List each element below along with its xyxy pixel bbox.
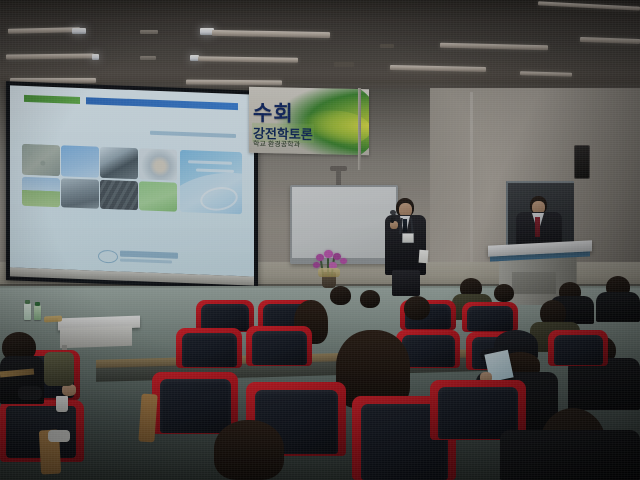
bottle-cap <box>25 300 30 304</box>
ceiling-light <box>390 65 486 72</box>
audience-body <box>596 292 640 322</box>
projection-screen <box>10 85 254 276</box>
ceiling-light <box>72 28 86 34</box>
slide-thumbnail <box>22 144 60 176</box>
seat-armrest <box>138 394 157 443</box>
ceiling-vent <box>380 44 394 48</box>
slide-thumbnail <box>100 147 138 179</box>
attendee-shoe <box>48 430 70 442</box>
flower-foliage <box>318 268 340 277</box>
banner-support-pole <box>358 88 361 170</box>
ceiling-light <box>520 71 572 76</box>
slide-logo-subtext <box>120 259 172 264</box>
snack-tray <box>44 316 62 323</box>
slide-thumbnail <box>61 178 99 208</box>
ceiling-light <box>440 43 548 51</box>
ceiling-vent <box>334 62 354 67</box>
ceiling-light <box>140 30 158 34</box>
audience-body <box>500 430 640 480</box>
lectern-front-panel <box>512 272 556 294</box>
podium-speaker-tie <box>535 217 540 237</box>
slide-thumbnail <box>61 145 99 177</box>
speaker-name-badge <box>402 233 414 243</box>
audience-head <box>330 286 351 305</box>
flower-bloom <box>340 258 347 264</box>
seat-back <box>201 304 249 331</box>
microphone-head <box>390 210 396 215</box>
speaker-papers <box>419 250 429 264</box>
slide-logo-mark <box>98 250 118 264</box>
ceiling-light <box>6 54 94 60</box>
seat-back <box>402 335 455 367</box>
seat-back <box>554 335 603 365</box>
event-banner: 수회 강전학토론 학교 환경공학과 <box>249 87 369 156</box>
ceiling-light <box>8 27 80 34</box>
ceiling <box>0 0 640 92</box>
ceiling-light <box>140 56 156 60</box>
slide-thumbnail <box>139 148 177 180</box>
flower-bloom <box>313 262 320 268</box>
attendee-shoe <box>18 386 42 400</box>
audience-head <box>494 284 514 302</box>
bottle-cap <box>35 302 40 306</box>
ceiling-light <box>198 56 298 63</box>
side-table-apron <box>60 326 132 349</box>
ceiling-light <box>538 1 640 10</box>
speaker-tie <box>403 219 407 232</box>
seat-back <box>160 379 231 433</box>
slide-thumbnail <box>100 180 138 210</box>
slide-accent-blue <box>86 97 238 110</box>
projector-mount-post <box>336 170 341 186</box>
ceiling-light <box>92 54 99 60</box>
slide-accent-green <box>24 95 80 104</box>
whiteboard <box>290 185 398 264</box>
water-bottle[interactable] <box>24 303 31 320</box>
flower-bloom <box>316 254 324 261</box>
flower-bloom <box>324 250 333 258</box>
lecture-hall-photo: 수회 강전학토론 학교 환경공학과 <box>0 0 640 480</box>
slide-logo-text <box>120 251 178 259</box>
banner-footline: 학교 환경공학과 <box>253 139 300 150</box>
audience-head <box>214 420 284 480</box>
ceiling-light <box>212 30 330 38</box>
paper-cup[interactable] <box>56 396 68 412</box>
audience-head <box>404 296 430 320</box>
projection-screen-frame <box>6 81 258 290</box>
wall-speaker-icon <box>574 145 590 179</box>
slide-blue-panel <box>180 150 242 214</box>
slide-thumbnail <box>22 177 60 207</box>
ceiling-light <box>580 37 640 44</box>
seat-back <box>182 333 237 367</box>
slide-thumbnail <box>139 181 177 211</box>
seat-back <box>252 331 307 365</box>
speaker-legs <box>392 270 420 296</box>
attendee-sleeve <box>44 352 74 386</box>
audience-head <box>360 290 380 308</box>
slide-url-watermark <box>150 131 236 138</box>
green-bottle[interactable] <box>34 305 41 320</box>
seat-back <box>467 306 513 331</box>
